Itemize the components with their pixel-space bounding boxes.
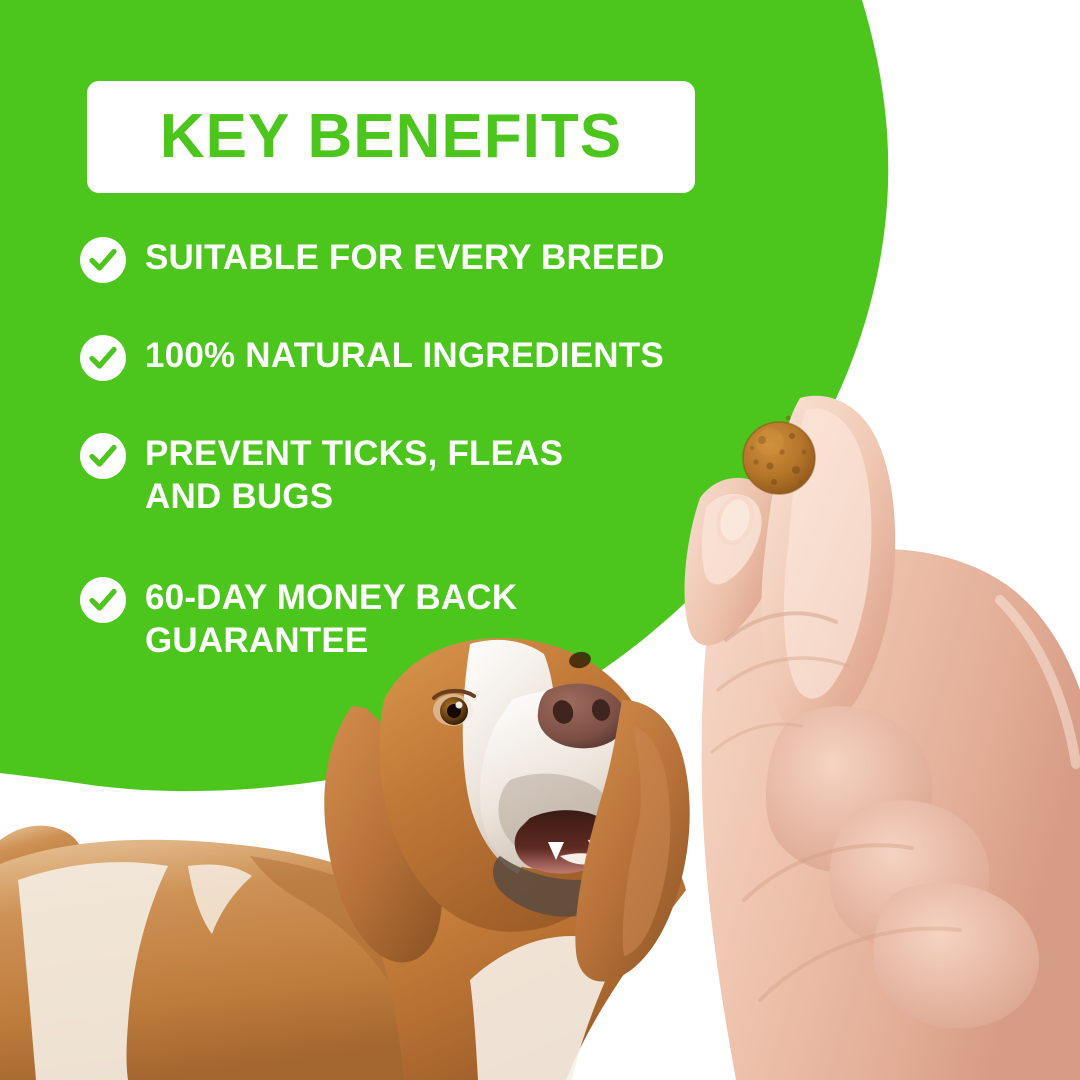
chewable-treat: [743, 416, 815, 494]
check-circle-icon: [80, 433, 126, 479]
benefit-item-money-back-guarantee: 60-DAY MONEY BACK GUARANTEE: [80, 576, 517, 662]
benefit-label: SUITABLE FOR EVERY BREED: [145, 236, 665, 280]
check-circle-icon: [80, 577, 126, 623]
check-circle-icon: [80, 237, 126, 283]
hand-holding-treat: [685, 396, 1080, 1080]
key-benefits-banner: KEY BENEFITS SUITABLE FOR EVERY BREED 10…: [0, 0, 1080, 1080]
check-circle-icon: [80, 335, 126, 381]
benefit-item-natural-ingredients: 100% NATURAL INGREDIENTS: [80, 334, 664, 381]
page-title: KEY BENEFITS: [160, 106, 622, 168]
dog-head: [324, 638, 689, 982]
benefit-label: 60-DAY MONEY BACK GUARANTEE: [145, 576, 517, 662]
benefit-item-suitable-for-every-breed: SUITABLE FOR EVERY BREED: [80, 236, 665, 283]
benefit-label: 100% NATURAL INGREDIENTS: [145, 334, 664, 378]
dog-body: [0, 825, 686, 1080]
benefit-item-prevent-ticks-fleas-bugs: PREVENT TICKS, FLEAS AND BUGS: [80, 432, 563, 518]
title-plate: KEY BENEFITS: [87, 81, 695, 193]
benefit-label: PREVENT TICKS, FLEAS AND BUGS: [145, 432, 563, 518]
